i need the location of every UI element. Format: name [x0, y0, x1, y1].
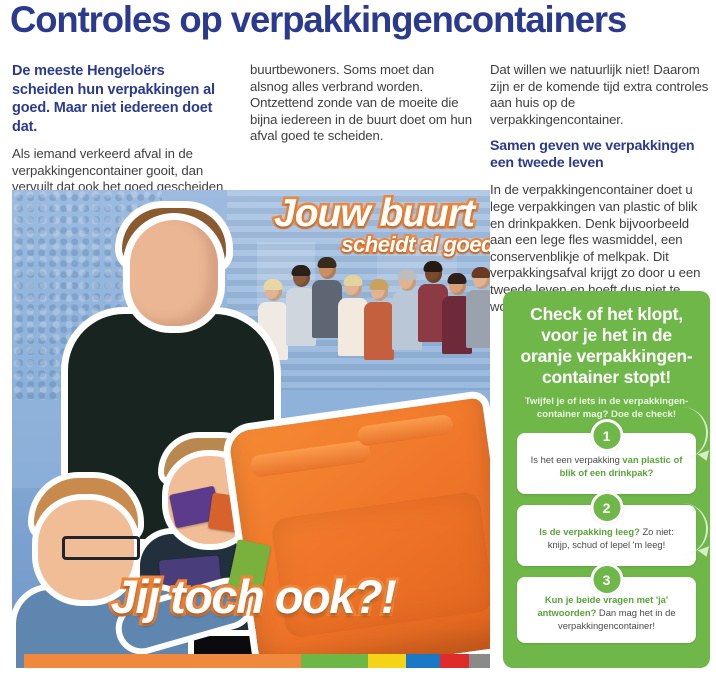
brand-color-bar [24, 654, 490, 668]
step-text: Kun je beide vragen met 'ja' antwoorden?… [529, 593, 684, 632]
check-box-title: Check of het klopt, voor je het in de or… [517, 304, 696, 388]
check-box-subtitle: Twijfel je of iets in de verpakkingen-co… [521, 396, 692, 421]
color-bar-segment [301, 654, 368, 668]
check-step: 3Kun je beide vragen met 'ja' antwoorden… [517, 577, 696, 643]
check-step: 2Is de verpakking leeg? Zo niet: knijp, … [517, 505, 696, 566]
article-page: Controles op verpakkingencontainers De m… [0, 0, 716, 683]
color-bar-segment [24, 654, 301, 668]
page-title: Controles op verpakkingencontainers [10, 0, 705, 42]
lead-paragraph: De meeste Hengeloërs scheiden hun verpak… [12, 62, 228, 136]
step-number-badge: 3 [590, 563, 623, 596]
photo-tagline: Jij toch ook?! [30, 569, 476, 624]
step-number-badge: 1 [590, 419, 623, 452]
color-bar-segment [440, 654, 469, 668]
photo-banner: Jouw buurt scheidt al goed [270, 190, 490, 278]
banner-line-2: scheidt al goed [341, 232, 490, 258]
text-column-middle: buurtbewoners. Soms moet dan alsnog alle… [250, 62, 474, 155]
color-bar-segment [469, 654, 491, 668]
check-steps-list: 1Is het een verpakking van plastic of bl… [503, 433, 710, 643]
check-step: 1Is het een verpakking van plastic of bl… [517, 433, 696, 494]
text-column-right: Dat willen we natuurlijk niet! Daarom zi… [490, 62, 712, 325]
body-paragraph-middle: buurtbewoners. Soms moet dan alsnog alle… [250, 62, 474, 145]
lid-ridge-right [356, 414, 454, 447]
lid-ridge-left [249, 440, 371, 478]
glasses-icon [62, 536, 140, 560]
step-text: Is de verpakking leeg? Zo niet: knijp, s… [529, 525, 684, 551]
check-info-box: Check of het klopt, voor je het in de or… [503, 291, 710, 668]
photo-man-head [130, 220, 218, 326]
banner-line-1: Jouw buurt [274, 192, 474, 236]
photo-orange-container-lid [228, 397, 490, 668]
step-text: Is het een verpakking van plastic of bli… [529, 453, 684, 479]
section-subheading: Samen geven we verpakkingen een tweede l… [490, 138, 712, 172]
campaign-photo: Jouw buurt scheidt al goed [12, 190, 490, 668]
color-bar-segment [368, 654, 406, 668]
body-paragraph-right-1: Dat willen we natuurlijk niet! Daarom zi… [490, 62, 712, 128]
color-bar-segment [406, 654, 439, 668]
step-number-badge: 2 [590, 491, 623, 524]
